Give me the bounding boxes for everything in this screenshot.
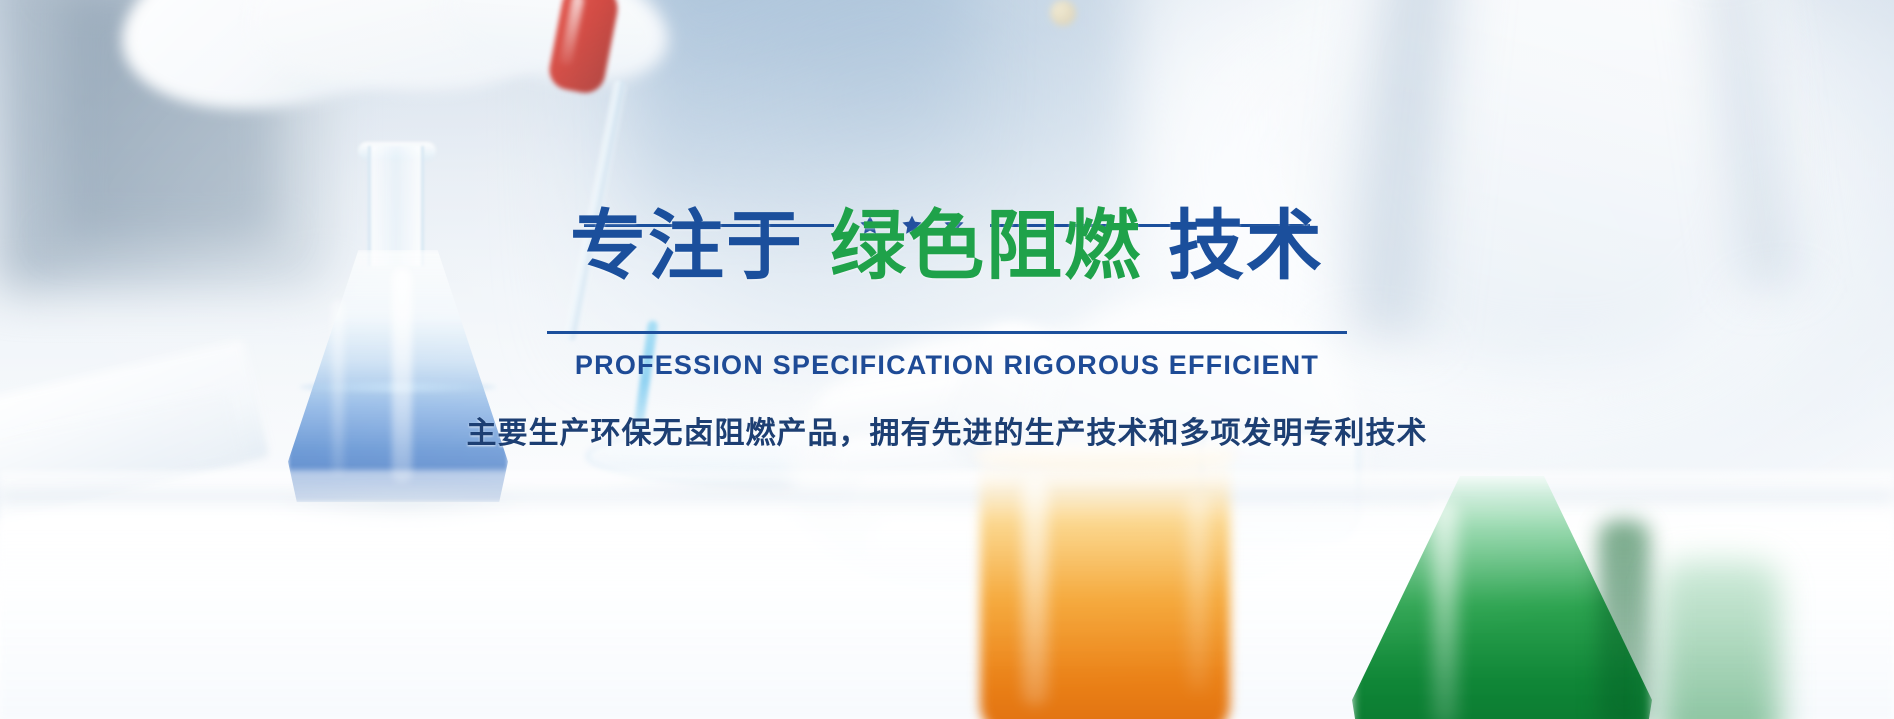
orange-beaker-highlight (1022, 476, 1048, 706)
english-subtitle: PROFESSION SPECIFICATION RIGOROUS EFFICI… (0, 348, 1894, 382)
page-title: 专注于绿色阻燃技术 (0, 198, 1894, 294)
headline-part-focus: 专注于 (570, 201, 804, 290)
hero-banner: 专注于绿色阻燃技术 PROFESSION SPECIFICATION RIGOR… (0, 0, 1894, 719)
green-flask-highlight (1432, 500, 1458, 719)
bench-edge-shadow (0, 492, 1894, 506)
headline-underline (547, 331, 1347, 334)
chinese-tagline: 主要生产环保无卤阻燃产品，拥有先进的生产技术和多项发明专利技术 (0, 412, 1894, 456)
headline-part-technology: 技术 (1168, 201, 1324, 290)
lab-coat-button (1050, 0, 1076, 26)
background-blue-haze-2 (640, 0, 970, 210)
headline-part-green-fr: 绿色阻燃 (830, 201, 1142, 290)
green-flask-far-right (1660, 560, 1780, 719)
green-flask-shadow (1598, 520, 1650, 719)
orange-beaker-highlight-2 (1188, 492, 1208, 692)
